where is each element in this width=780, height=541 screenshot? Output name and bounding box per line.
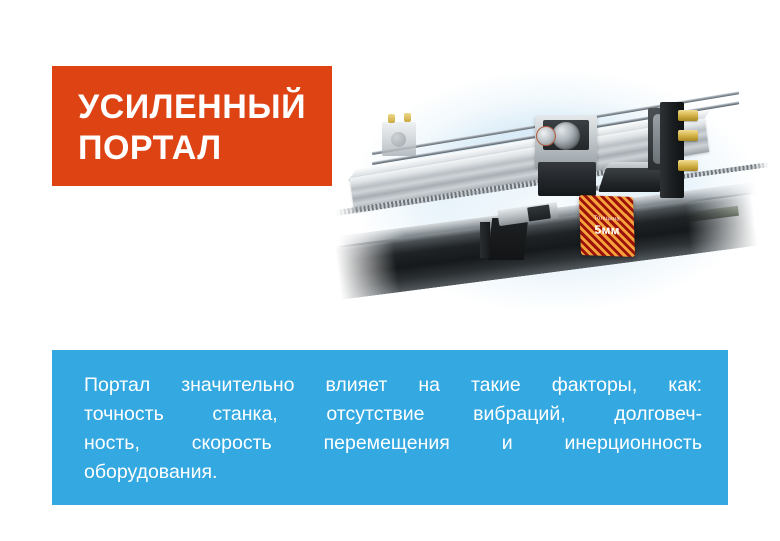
pneumatic-fitting-bottom (678, 160, 698, 171)
far-screw-right (404, 113, 411, 122)
slide-root: Толщина 5мм УСИЛЕННЫЙ ПОРТАЛ Портал знач… (0, 0, 780, 541)
thickness-badge-value: 5мм (594, 224, 620, 237)
far-screw-left (388, 114, 395, 123)
gantry-support-post-front (480, 222, 490, 258)
tool-clamp (598, 168, 668, 192)
thickness-badge-label: Толщина (594, 216, 621, 223)
description-line-3: ность, скорость перемещения и инерционно… (84, 429, 702, 458)
motor-bearing-roller (552, 122, 580, 150)
description-line-2: точность станка, отсутствие вибраций, до… (84, 400, 702, 429)
page-title-line-1: УСИЛЕННЫЙ (78, 87, 332, 128)
title-block: УСИЛЕННЫЙ ПОРТАЛ (52, 66, 332, 186)
description-line-4: оборудования. (84, 458, 702, 487)
pneumatic-fitting-middle (678, 130, 698, 141)
page-title-line-2: ПОРТАЛ (78, 128, 332, 169)
thickness-badge: Толщина 5мм (579, 195, 635, 257)
product-photo: Толщина 5мм (330, 10, 780, 350)
gantry-assembly: Толщина 5мм (330, 10, 780, 350)
description-text: Портал значительно влияет на такие факто… (84, 371, 702, 487)
pneumatic-fitting-top (678, 110, 698, 121)
motor-housing (538, 162, 596, 196)
far-bearing-block (382, 122, 416, 156)
description-line-1: Портал значительно влияет на такие факто… (84, 371, 702, 400)
bearing-retainer-ring (536, 126, 556, 146)
description-block: Портал значительно влияет на такие факто… (52, 350, 728, 505)
